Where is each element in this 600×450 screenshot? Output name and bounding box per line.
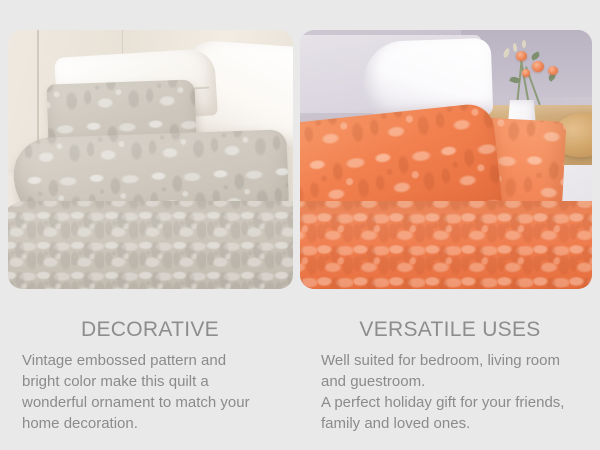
grey-quilt-bedding-photo[interactable] (8, 30, 293, 289)
product-feature-panel: DECORATIVE Vintage embossed pattern and … (0, 0, 600, 450)
orange-quilt-bedding-photo[interactable] (300, 30, 592, 289)
wall-seam (37, 30, 39, 149)
damask-emboss-texture (8, 201, 293, 289)
caption-column-decorative: DECORATIVE Vintage embossed pattern and … (0, 300, 300, 450)
grey-quilt-scene (8, 30, 293, 289)
caption-row: DECORATIVE Vintage embossed pattern and … (0, 300, 600, 450)
feature-heading-versatile-uses: VERSATILE USES (300, 300, 600, 342)
quilt-bedspread (300, 201, 592, 289)
feature-description-decorative: Vintage embossed pattern and bright colo… (0, 342, 300, 434)
rose-bloom (522, 69, 530, 77)
orange-quilt-scene (300, 30, 592, 289)
image-row (0, 30, 600, 289)
floral-emboss-texture (300, 201, 592, 289)
rose-bloom (516, 51, 527, 61)
feature-description-versatile-uses: Well suited for bedroom, living room and… (300, 342, 600, 434)
quilted-bedspread (8, 201, 293, 289)
caption-column-versatile-uses: VERSATILE USES Well suited for bedroom, … (300, 300, 600, 450)
feature-heading-decorative: DECORATIVE (0, 300, 300, 342)
